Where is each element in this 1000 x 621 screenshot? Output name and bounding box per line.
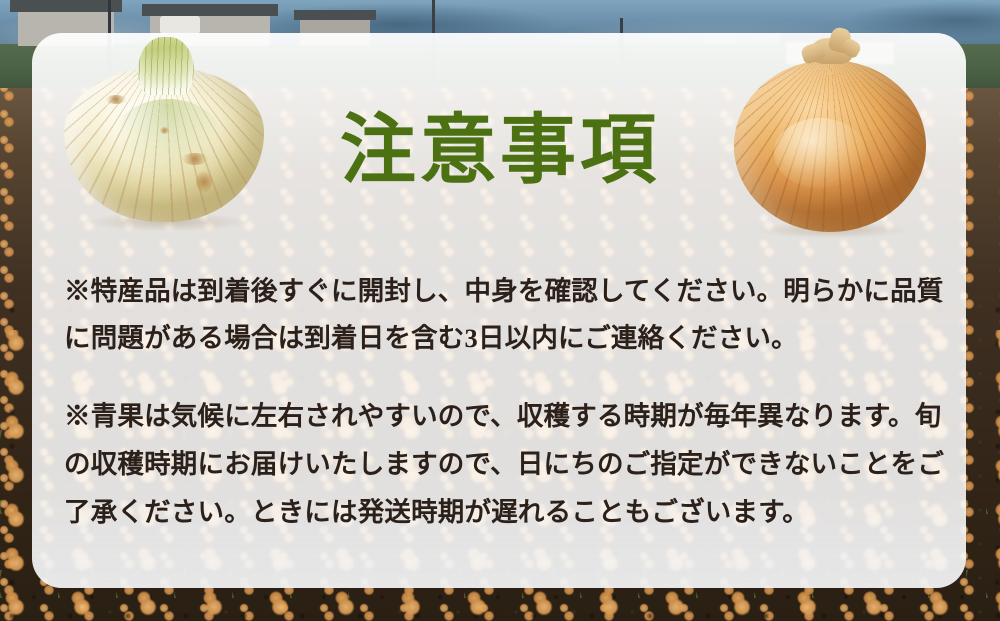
notice-paragraph-delivery-check: ※特産品は到着後すぐに開封し、中身を確認してください。明らかに品質に問題がある場… <box>64 268 946 362</box>
white-onion-neck <box>138 37 194 95</box>
notice-text-block: ※特産品は到着後すぐに開封し、中身を確認してください。明らかに品質に問題がある場… <box>64 268 946 536</box>
notice-banner: 注意事項 ※特産品は到着後すぐに開封し、中身を確認してください。明らかに品質に問… <box>0 0 1000 621</box>
golden-onion-neck <box>796 24 864 72</box>
notice-paragraph-harvest-timing: ※青果は気候に左右されやすいので、収穫する時期が毎年異なります。旬の収穫時期にお… <box>64 392 946 536</box>
page-title: 注意事項 <box>0 108 1000 194</box>
